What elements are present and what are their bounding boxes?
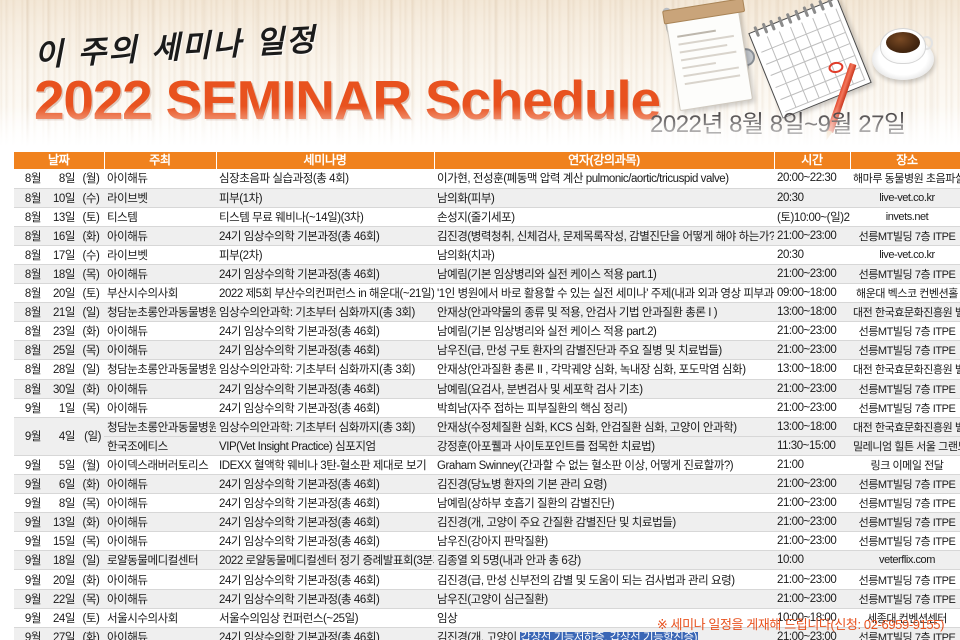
table-row: 8월25일(목)아이해듀24기 임상수의학 기본과정(총 46회)남우진(급, … — [14, 341, 960, 360]
cell-time: 13:00~18:00 — [774, 417, 850, 436]
page-title: 2022 SEMINAR Schedule — [34, 68, 660, 132]
seminar-schedule-page: 이 주의 세미나 일정 2022 SEMINAR Schedule 2022년 … — [0, 0, 960, 640]
cell-speaker: Graham Swinney(간과할 수 없는 혈소판 이상, 어떻게 진료할까… — [434, 455, 774, 474]
cell-time: 21:00~23:00 — [774, 322, 850, 341]
cell-seminar-name: 24기 임상수의학 기본과정(총 46회) — [216, 494, 434, 513]
cell-host: 아이해듀 — [104, 379, 216, 398]
cell-date-month: 8월 — [14, 226, 44, 245]
cell-host: 아이해듀 — [104, 226, 216, 245]
cell-date-month: 8월 — [14, 303, 44, 322]
table-row: 9월6일(화)아이해듀24기 임상수의학 기본과정(총 46회)김진경(당뇨병 … — [14, 475, 960, 494]
cell-host: 티스템 — [104, 207, 216, 226]
cell-date-month: 8월 — [14, 360, 44, 379]
cell-date-day: 24일 — [44, 608, 78, 627]
table-row: 9월15일(목)아이해듀24기 임상수의학 기본과정(총 46회)남우진(강아지… — [14, 532, 960, 551]
cell-date-month: 8월 — [14, 169, 44, 188]
cell-time: 21:00~23:00 — [774, 475, 850, 494]
column-header-seminar: 세미나명 — [216, 152, 434, 169]
cell-date-month: 9월 — [14, 627, 44, 640]
cell-speaker: 손성지(줄기세포) — [434, 207, 774, 226]
cell-date-month: 8월 — [14, 264, 44, 283]
cell-date-dow: (수) — [78, 245, 104, 264]
cell-speaker: 김진경(당뇨병 환자의 기본 관리 요령) — [434, 475, 774, 494]
cell-host: 아이해듀 — [104, 322, 216, 341]
table-row: 9월13일(화)아이해듀24기 임상수의학 기본과정(총 46회)김진경(개, … — [14, 513, 960, 532]
cell-host: 아이덱스래버러토리스 — [104, 455, 216, 474]
cell-speaker: 김진경(급, 만성 신부전의 감별 및 도움이 되는 검사법과 관리 요령) — [434, 570, 774, 589]
cell-date-dow: (목) — [78, 264, 104, 283]
cell-date-dow: (토) — [78, 608, 104, 627]
cell-date-month: 8월 — [14, 188, 44, 207]
cell-time: 13:00~18:00 — [774, 303, 850, 322]
cell-seminar-name: 임상수의안과학: 기초부터 심화까지(총 3회) — [216, 417, 434, 436]
cell-date-month: 9월 — [14, 608, 44, 627]
cell-date-month: 9월 — [14, 513, 44, 532]
cell-time: 21:00~23:00 — [774, 513, 850, 532]
cell-date-day: 13일 — [44, 513, 78, 532]
cell-date-dow: (화) — [78, 322, 104, 341]
cell-date-day: 5일 — [44, 455, 78, 474]
cell-date-day: 22일 — [44, 589, 78, 608]
cell-date-day: 23일 — [44, 322, 78, 341]
cell-time: 11:30~15:00 — [774, 436, 850, 455]
cell-speaker: 남예림(기본 임상병리와 실전 케이스 적용 part.1) — [434, 264, 774, 283]
cell-date-dow: (토) — [78, 284, 104, 303]
column-header-date: 날짜 — [14, 152, 104, 169]
table-row: 8월10일(수)라이브벳피부(1차)남의화(피부)20:30live-vet.c… — [14, 188, 960, 207]
cell-date-month: 8월 — [14, 379, 44, 398]
cell-place: veterflix.com — [850, 551, 960, 570]
cell-seminar-name: 24기 임상수의학 기본과정(총 46회) — [216, 532, 434, 551]
cell-seminar-name: 24기 임상수의학 기본과정(총 46회) — [216, 341, 434, 360]
cell-host: 아이해듀 — [104, 589, 216, 608]
cell-speaker: 안재상(수정체질환 심화, KCS 심화, 안검질환 심화, 고양이 안과학) — [434, 417, 774, 436]
cell-place: live-vet.co.kr — [850, 245, 960, 264]
cell-seminar-name: 24기 임상수의학 기본과정(총 46회) — [216, 627, 434, 640]
cell-date-month: 8월 — [14, 341, 44, 360]
footer-note: ※ 세미나 일정을 게재해 드립니다(신청: 02-6959-9155) — [657, 614, 944, 633]
table-row: 9월1일(목)아이해듀24기 임상수의학 기본과정(총 46회)박희남(자주 접… — [14, 398, 960, 417]
table-row: 8월21일(일)청담눈초롱안과동물병원임상수의안과학: 기초부터 심화까지(총 … — [14, 303, 960, 322]
cell-place: 선릉MT빌딩 7층 ITPE — [850, 589, 960, 608]
cell-seminar-name: 24기 임상수의학 기본과정(총 46회) — [216, 398, 434, 417]
cell-date-day: 17일 — [44, 245, 78, 264]
cell-host: 라이브벳 — [104, 245, 216, 264]
cell-seminar-name: IDEXX 혈액학 웨비나 3탄-혈소판 제대로 보기 — [216, 455, 434, 474]
cell-date-dow: (화) — [78, 513, 104, 532]
cell-place: 링크 이메일 전달 — [850, 455, 960, 474]
cell-speaker: 남예림(요검사, 분변검사 및 세포학 검사 기초) — [434, 379, 774, 398]
cell-speaker: 박희남(자주 접하는 피부질환의 핵심 정리) — [434, 398, 774, 417]
table-row: 한국조에티스VIP(Vet Insight Practice) 심포지엄강정훈(… — [14, 436, 960, 455]
cell-seminar-name: 24기 임상수의학 기본과정(총 46회) — [216, 322, 434, 341]
cell-date-dow: (일) — [78, 360, 104, 379]
cell-date-month: 9월 — [14, 570, 44, 589]
column-header-speaker: 연자(강의과목) — [434, 152, 774, 169]
cell-speaker: 남의화(피부) — [434, 188, 774, 207]
cell-time: 21:00~23:00 — [774, 532, 850, 551]
cell-place: 선릉MT빌딩 7층 ITPE — [850, 322, 960, 341]
coffee-cup-icon — [872, 22, 934, 80]
cell-place: 선릉MT빌딩 7층 ITPE — [850, 379, 960, 398]
column-header-host: 주최 — [104, 152, 216, 169]
text-selection-highlight: 갑상선 기능저하증, 갑상선 기능항진증) — [520, 632, 698, 640]
cell-speaker: 남예림(기본 임상병리와 실전 케이스 적용 part.2) — [434, 322, 774, 341]
cell-date-day: 10일 — [44, 188, 78, 207]
cell-date-day: 27일 — [44, 627, 78, 640]
cell-time: 09:00~18:00 — [774, 284, 850, 303]
cell-host: 아이해듀 — [104, 475, 216, 494]
table-row: 8월8일(월)아이해듀심장초음파 실습과정(총 4회)이가현, 전성훈(폐동맥 … — [14, 169, 960, 188]
table-row: 9월22일(목)아이해듀24기 임상수의학 기본과정(총 46회)남우진(고양이… — [14, 589, 960, 608]
table-row: 8월13일(토)티스템티스템 무료 웨비나(~14일)(3차)손성지(줄기세포)… — [14, 207, 960, 226]
column-header-time: 시간 — [774, 152, 850, 169]
cell-time: 21:00~23:00 — [774, 264, 850, 283]
cell-date-month: 9월 — [14, 494, 44, 513]
table-header-row: 날짜 주최 세미나명 연자(강의과목) 시간 장소 문의 — [14, 152, 960, 169]
cell-place: 대전 한국효문화진흥원 별관 2층 — [850, 360, 960, 379]
cell-date-day: 4일 — [44, 417, 78, 455]
cell-seminar-name: 24기 임상수의학 기본과정(총 46회) — [216, 570, 434, 589]
cell-place: invets.net — [850, 207, 960, 226]
cell-seminar-name: 서울수의임상 컨퍼런스(~25일) — [216, 608, 434, 627]
cell-date-dow: (목) — [78, 532, 104, 551]
cell-date-day: 18일 — [44, 264, 78, 283]
cell-seminar-name: 24기 임상수의학 기본과정(총 46회) — [216, 589, 434, 608]
cell-seminar-name: 심장초음파 실습과정(총 4회) — [216, 169, 434, 188]
cell-date-day: 6일 — [44, 475, 78, 494]
cell-date-day: 20일 — [44, 284, 78, 303]
cell-date-dow: (목) — [78, 589, 104, 608]
cell-time: 21:00~23:00 — [774, 379, 850, 398]
cell-place: live-vet.co.kr — [850, 188, 960, 207]
banner-header: 이 주의 세미나 일정 2022 SEMINAR Schedule 2022년 … — [0, 0, 960, 152]
table-row: 9월18일(일)로얄동물메디컬센터2022 로얄동물메디컬센터 정기 증례발표회… — [14, 551, 960, 570]
cell-host: 아이해듀 — [104, 341, 216, 360]
cell-place: 선릉MT빌딩 7층 ITPE — [850, 398, 960, 417]
cell-date-dow: (화) — [78, 627, 104, 640]
cell-date-day: 21일 — [44, 303, 78, 322]
cell-date-day: 30일 — [44, 379, 78, 398]
cell-seminar-name: 24기 임상수의학 기본과정(총 46회) — [216, 513, 434, 532]
cell-speaker: 남예림(상하부 호흡기 질환의 감별진단) — [434, 494, 774, 513]
table-row: 8월20일(토)부산시수의사회2022 제5회 부산수의컨퍼런스 in 해운대(… — [14, 284, 960, 303]
table-row: 9월20일(화)아이해듀24기 임상수의학 기본과정(총 46회)김진경(급, … — [14, 570, 960, 589]
cell-host: 한국조에티스 — [104, 436, 216, 455]
table-row: 8월23일(화)아이해듀24기 임상수의학 기본과정(총 46회)남예림(기본 … — [14, 322, 960, 341]
cell-date-dow: (일) — [78, 551, 104, 570]
calendar-icon — [748, 0, 871, 119]
cell-speaker: '1인 병원에서 바로 활용할 수 있는 실전 세미나' 주제(내과 외과 영상… — [434, 284, 774, 303]
cell-speaker: 남우진(고양이 심근질환) — [434, 589, 774, 608]
cell-seminar-name: 피부(1차) — [216, 188, 434, 207]
cell-time: 21:00~23:00 — [774, 341, 850, 360]
cell-date-month: 9월 — [14, 455, 44, 474]
cell-speaker: 김종열 외 5명(내과 안과 총 6강) — [434, 551, 774, 570]
cell-place: 선릉MT빌딩 7층 ITPE — [850, 264, 960, 283]
cell-host: 청담눈초롱안과동물병원 — [104, 360, 216, 379]
cell-date-day: 15일 — [44, 532, 78, 551]
schedule-table-wrapper: 날짜 주최 세미나명 연자(강의과목) 시간 장소 문의 8월8일(월)아이해듀… — [14, 152, 946, 640]
cell-host: 아이해듀 — [104, 494, 216, 513]
table-row: 9월5일(월)아이덱스래버러토리스IDEXX 혈액학 웨비나 3탄-혈소판 제대… — [14, 455, 960, 474]
cell-host: 로얄동물메디컬센터 — [104, 551, 216, 570]
cell-seminar-name: VIP(Vet Insight Practice) 심포지엄 — [216, 436, 434, 455]
cell-host: 부산시수의사회 — [104, 284, 216, 303]
cell-date-day: 16일 — [44, 226, 78, 245]
table-row: 8월16일(화)아이해듀24기 임상수의학 기본과정(총 46회)김진경(병력청… — [14, 226, 960, 245]
cell-place: 선릉MT빌딩 7층 ITPE — [850, 226, 960, 245]
cell-date-month: 9월 — [14, 551, 44, 570]
cell-date-day: 18일 — [44, 551, 78, 570]
cell-seminar-name: 24기 임상수의학 기본과정(총 46회) — [216, 475, 434, 494]
cell-seminar-name: 임상수의안과학: 기초부터 심화까지(총 3회) — [216, 303, 434, 322]
schedule-table: 날짜 주최 세미나명 연자(강의과목) 시간 장소 문의 8월8일(월)아이해듀… — [14, 152, 960, 640]
cell-host: 아이해듀 — [104, 627, 216, 640]
cell-speaker: 김진경(개, 고양이 주요 간질환 감별진단 및 치료법들) — [434, 513, 774, 532]
cell-date-dow: (화) — [78, 379, 104, 398]
cell-host: 아이해듀 — [104, 570, 216, 589]
cell-speaker: 안재상(안과질환 총론 II , 각막궤양 심화, 녹내장 심화, 포도막염 심… — [434, 360, 774, 379]
cell-date-day: 20일 — [44, 570, 78, 589]
cell-place: 선릉MT빌딩 7층 ITPE — [850, 570, 960, 589]
cell-date-day: 1일 — [44, 398, 78, 417]
table-row: 9월8일(목)아이해듀24기 임상수의학 기본과정(총 46회)남예림(상하부 … — [14, 494, 960, 513]
cell-date-month: 9월 — [14, 398, 44, 417]
cell-date-day: 25일 — [44, 341, 78, 360]
cell-date-day: 8일 — [44, 169, 78, 188]
cell-place: 선릉MT빌딩 7층 ITPE — [850, 513, 960, 532]
cell-date-month: 9월 — [14, 417, 44, 455]
cell-place: 밀레니엄 힐튼 서울 그랜드볼룸 — [850, 436, 960, 455]
cell-time: 21:00~23:00 — [774, 570, 850, 589]
cell-date-dow: (화) — [78, 475, 104, 494]
cell-speaker: 남우진(강아지 판막질환) — [434, 532, 774, 551]
cell-speaker: 남우진(급, 만성 구토 환자의 감별진단과 주요 질병 및 치료법들) — [434, 341, 774, 360]
cell-speaker: 강정훈(아포퀠과 사이토포인트를 접목한 치료법) — [434, 436, 774, 455]
cell-time: 10:00 — [774, 551, 850, 570]
cell-place: 대전 한국효문화진흥원 별관 2층 — [850, 417, 960, 436]
cell-time: 21:00 — [774, 455, 850, 474]
banner-script-title: 이 주의 세미나 일정 — [33, 14, 318, 75]
table-row: 9월4일(일)청담눈초롱안과동물병원임상수의안과학: 기초부터 심화까지(총 3… — [14, 417, 960, 436]
cell-date-dow: (월) — [78, 169, 104, 188]
cell-date-dow: (토) — [78, 207, 104, 226]
cell-host: 아이해듀 — [104, 264, 216, 283]
cell-date-dow: (화) — [78, 226, 104, 245]
cell-date-day: 13일 — [44, 207, 78, 226]
cell-time: 20:30 — [774, 245, 850, 264]
cell-date-dow: (일) — [78, 303, 104, 322]
cell-place: 선릉MT빌딩 7층 ITPE — [850, 341, 960, 360]
cell-place: 선릉MT빌딩 7층 ITPE — [850, 494, 960, 513]
clipboard-icon — [665, 5, 753, 111]
cell-date-month: 9월 — [14, 532, 44, 551]
cell-place: 대전 한국효문화진흥원 별관 2층 — [850, 303, 960, 322]
cell-place: 선릉MT빌딩 7층 ITPE — [850, 532, 960, 551]
cell-date-month: 9월 — [14, 475, 44, 494]
cell-date-month: 8월 — [14, 207, 44, 226]
cell-host: 아이해듀 — [104, 169, 216, 188]
cell-seminar-name: 임상수의안과학: 기초부터 심화까지(총 3회) — [216, 360, 434, 379]
cell-speaker: 남의화(치과) — [434, 245, 774, 264]
cell-date-dow: (목) — [78, 398, 104, 417]
cell-time: 13:00~18:00 — [774, 360, 850, 379]
cell-host: 아이해듀 — [104, 532, 216, 551]
cell-time: (토)10:00~(일)23:59 — [774, 207, 850, 226]
cell-date-day: 28일 — [44, 360, 78, 379]
cell-date-dow: (목) — [78, 341, 104, 360]
cell-date-month: 8월 — [14, 322, 44, 341]
cell-date-month: 9월 — [14, 589, 44, 608]
cell-time: 21:00~23:00 — [774, 589, 850, 608]
cell-seminar-name: 24기 임상수의학 기본과정(총 46회) — [216, 264, 434, 283]
banner-date-range: 2022년 8월 8일~9월 27일 — [650, 104, 906, 139]
cell-host: 서울시수의사회 — [104, 608, 216, 627]
schedule-table-body: 8월8일(월)아이해듀심장초음파 실습과정(총 4회)이가현, 전성훈(폐동맥 … — [14, 169, 960, 640]
cell-date-month: 8월 — [14, 284, 44, 303]
cell-place: 해운대 벡스코 컨벤션홀 — [850, 284, 960, 303]
table-row: 8월30일(화)아이해듀24기 임상수의학 기본과정(총 46회)남예림(요검사… — [14, 379, 960, 398]
cell-time: 20:30 — [774, 188, 850, 207]
table-row: 8월17일(수)라이브벳피부(2차)남의화(치과)20:30live-vet.c… — [14, 245, 960, 264]
cell-speaker: 안재상(안과약물의 종류 및 적용, 안검사 기법 안과질환 총론 I ) — [434, 303, 774, 322]
cell-date-dow: (목) — [78, 494, 104, 513]
cell-speaker: 김진경(병력청취, 신체검사, 문제목록작성, 감별진단을 어떻게 해야 하는가… — [434, 226, 774, 245]
cell-date-month: 8월 — [14, 245, 44, 264]
clipboard-lines — [677, 27, 743, 105]
cell-date-dow: (월) — [78, 455, 104, 474]
cell-seminar-name: 2022 로얄동물메디컬센터 정기 증례발표회(3분기) — [216, 551, 434, 570]
cell-place: 선릉MT빌딩 7층 ITPE — [850, 475, 960, 494]
cell-place: 해마루 동물병원 초음파실 — [850, 169, 960, 188]
cell-host: 아이해듀 — [104, 398, 216, 417]
cell-time: 21:00~23:00 — [774, 226, 850, 245]
cell-date-dow: (수) — [78, 188, 104, 207]
cell-seminar-name: 2022 제5회 부산수의컨퍼런스 in 해운대(~21일) — [216, 284, 434, 303]
cell-speaker: 이가현, 전성훈(폐동맥 압력 계산 pulmonic/aortic/tricu… — [434, 169, 774, 188]
cell-host: 청담눈초롱안과동물병원 — [104, 303, 216, 322]
table-row: 8월28일(일)청담눈초롱안과동물병원임상수의안과학: 기초부터 심화까지(총 … — [14, 360, 960, 379]
cell-host: 청담눈초롱안과동물병원 — [104, 417, 216, 436]
cell-time: 21:00~23:00 — [774, 494, 850, 513]
cell-host: 아이해듀 — [104, 513, 216, 532]
cell-seminar-name: 피부(2차) — [216, 245, 434, 264]
cell-time: 20:00~22:30 — [774, 169, 850, 188]
cell-date-dow: (일) — [78, 417, 104, 455]
speaker-text: 김진경(개, 고양이 — [437, 632, 520, 640]
cell-date-dow: (화) — [78, 570, 104, 589]
cell-seminar-name: 24기 임상수의학 기본과정(총 46회) — [216, 379, 434, 398]
cell-host: 라이브벳 — [104, 188, 216, 207]
cell-seminar-name: 티스템 무료 웨비나(~14일)(3차) — [216, 207, 434, 226]
cell-date-day: 8일 — [44, 494, 78, 513]
table-row: 8월18일(목)아이해듀24기 임상수의학 기본과정(총 46회)남예림(기본 … — [14, 264, 960, 283]
cell-seminar-name: 24기 임상수의학 기본과정(총 46회) — [216, 226, 434, 245]
cell-time: 21:00~23:00 — [774, 398, 850, 417]
column-header-place: 장소 — [850, 152, 960, 169]
